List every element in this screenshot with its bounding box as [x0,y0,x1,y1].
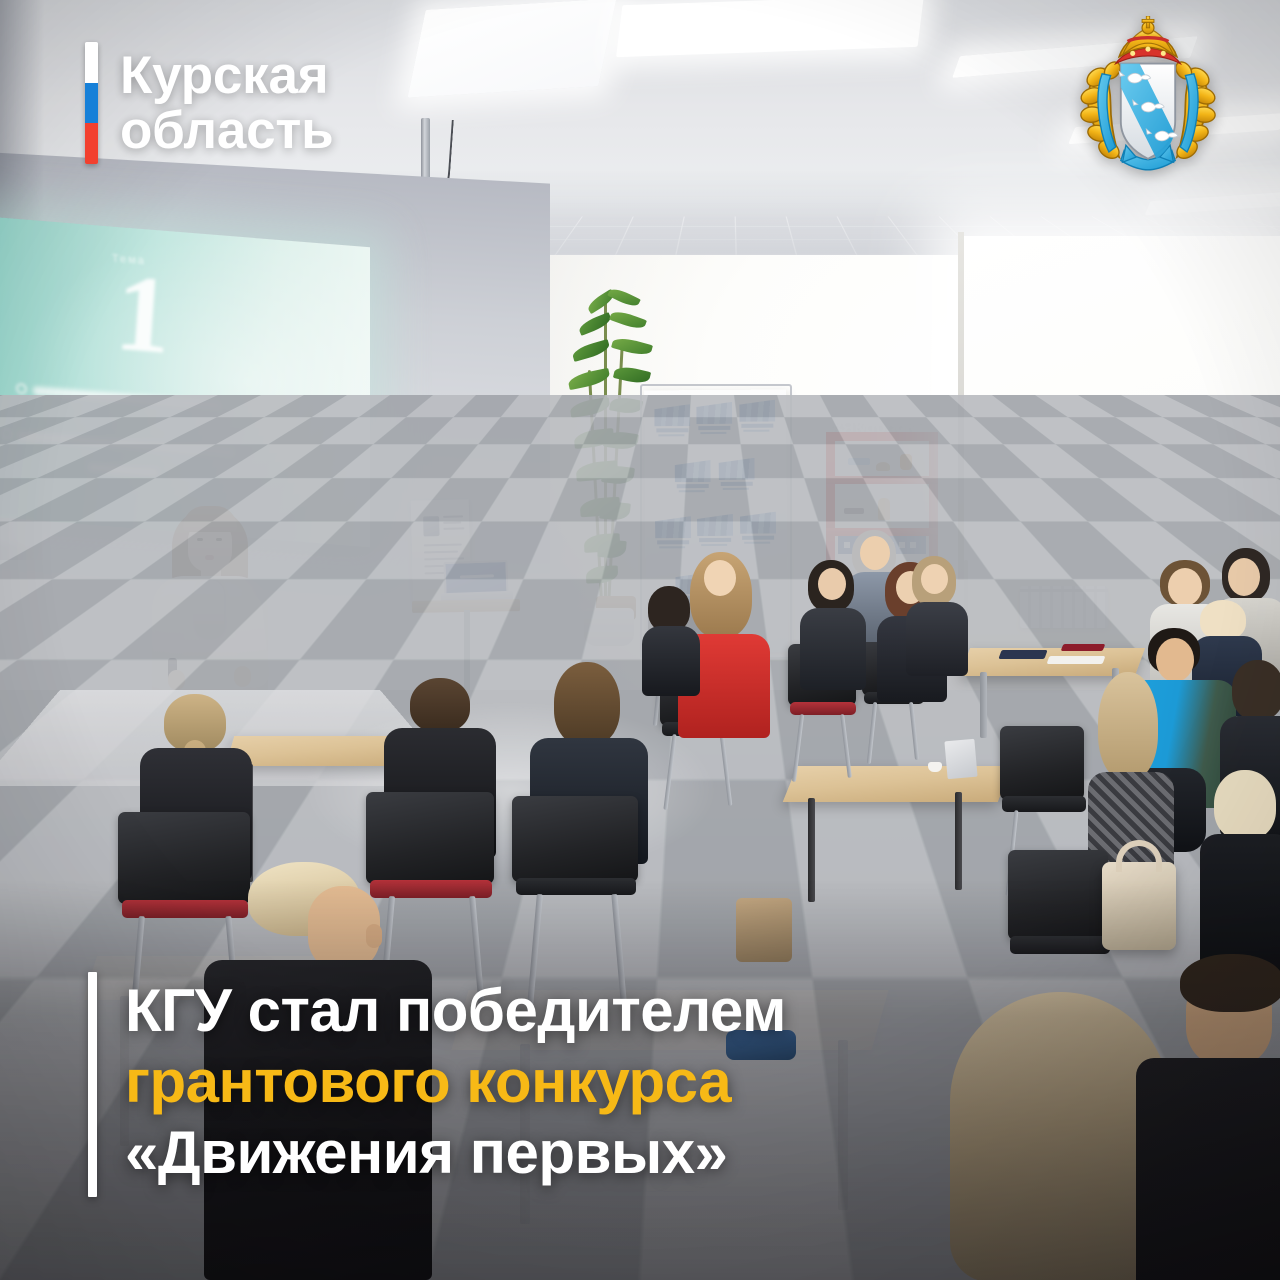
tricolor-blue-stripe [85,83,98,124]
slide-number: 1 [112,257,175,371]
brand-lockup: Курская область [85,42,334,164]
paper-on-table [998,650,1047,659]
shelf-object [900,454,912,470]
tricolor-white-stripe [85,42,98,83]
headline-line-1: КГУ стал победителем [125,976,786,1045]
brand-title-line1: Курская [120,48,334,103]
tricolor-red-stripe [85,123,98,164]
radiator [1020,586,1108,628]
headline-block: КГУ стал победителем грантового конкурса… [88,972,786,1197]
headline-line-2: грантового конкурса [125,1047,786,1116]
headline-lines: КГУ стал победителем грантового конкурса… [125,972,786,1197]
shelf-object [876,462,890,471]
russian-tricolor-bar [85,42,98,164]
slide-bullet-marker [16,383,27,395]
ceiling-led-panel [408,0,617,98]
table [783,766,1013,802]
brand-title: Курская область [120,48,334,158]
window-with-blind [962,236,1280,592]
headline-line-3: «Движения первых» [125,1118,786,1187]
poster-canvas: Тема 1 [0,0,1280,1280]
kursk-oblast-coat-of-arms-icon [1063,16,1233,186]
brand-title-line2: область [120,103,334,158]
floor-highlight [300,700,720,880]
table-leg [980,672,987,738]
paper-on-table [1061,644,1106,651]
headline-accent-bar [88,972,97,1197]
paper-on-table [1047,656,1106,664]
window-frame [958,232,964,596]
ceiling-led-panel [616,0,924,57]
imperial-crown [1119,16,1177,57]
cup-on-table [928,762,942,772]
table-leg [955,792,962,890]
tablet-on-stand [944,739,977,779]
